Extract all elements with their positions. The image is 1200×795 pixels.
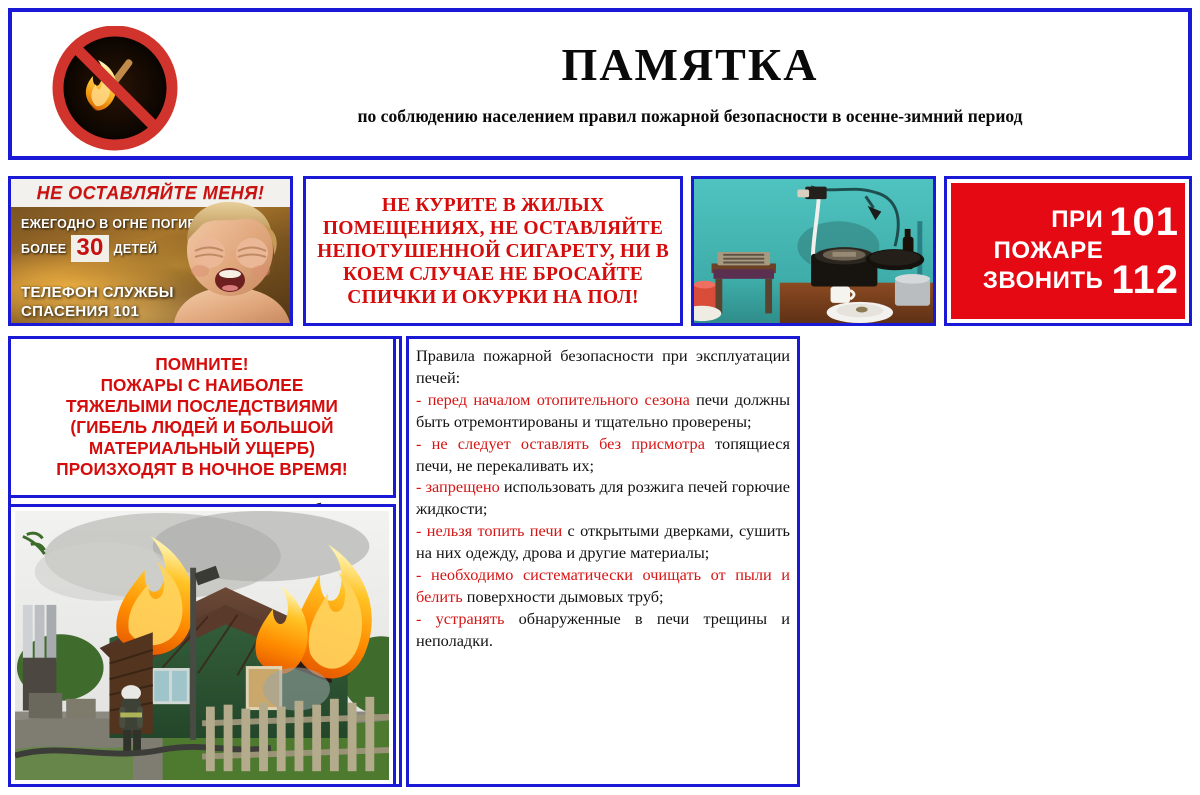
stove-item: - необходимо систематически очищать от п…: [416, 564, 790, 608]
kids-phone-line1: ТЕЛЕФОН СЛУЖБЫ: [21, 284, 174, 303]
kids-stat-prefix: БОЛЕЕ: [21, 242, 66, 256]
emergency-word-2: ПОЖАРЕ: [959, 236, 1103, 267]
stove-heading: Правила пожарной безопасности при эксплу…: [416, 345, 790, 389]
stove-item: - не следует оставлять без присмотра топ…: [416, 433, 790, 477]
stove-item-red: - не следует оставлять без присмотра: [416, 434, 705, 453]
title-block: ПАМЯТКА по соблюдению населением правил …: [202, 12, 1178, 156]
remember-line: (ГИБЕЛЬ ЛЮДЕЙ И БОЛЬШОЙ: [56, 417, 348, 438]
remember-warning-text: ПОМНИТЕ! ПОЖАРЫ С НАИБОЛЕЕ ТЯЖЕЛЫМИ ПОСЛ…: [56, 354, 348, 481]
stove-item-black: поверхности дымовых труб;: [463, 587, 664, 606]
kitchen-hazard-photo: [691, 176, 936, 326]
emergency-number-101: 101: [1109, 193, 1179, 251]
kids-victim-count: 30: [71, 235, 108, 262]
page-subtitle: по соблюдению населением правил пожарной…: [357, 106, 1022, 127]
remember-line: ПОЖАРЫ С НАИБОЛЕЕ: [56, 375, 348, 396]
kids-phone-line2: СПАСЕНИЯ 101: [21, 303, 174, 322]
children-fire-victims-banner: НЕ ОСТАВЛЯЙТЕ МЕНЯ! ЕЖЕГОДНО В ОГНЕ ПОГИ…: [8, 176, 293, 326]
emergency-numbers: 101 112: [1109, 193, 1179, 309]
banner-row: НЕ ОСТАВЛЯЙТЕ МЕНЯ! ЕЖЕГОДНО В ОГНЕ ПОГИ…: [8, 170, 1192, 330]
stove-item: - устранять обнаруженные в печи трещины …: [416, 608, 790, 652]
stove-item: - нельзя топить печи с открытыми дверкам…: [416, 520, 790, 564]
remember-warning-box: ПОМНИТЕ! ПОЖАРЫ С НАИБОЛЕЕ ТЯЖЕЛЫМИ ПОСЛ…: [8, 336, 396, 498]
remember-line: ПРОИЗХОДЯТ В НОЧНОЕ ВРЕМЯ!: [56, 459, 348, 480]
emergency-word-1: ПРИ: [959, 205, 1103, 236]
no-open-flame-icon: [40, 26, 190, 151]
stove-item-red: - устранять: [416, 609, 504, 628]
stove-item: - запрещено использовать для розжига печ…: [416, 476, 790, 520]
stove-item-red: - нельзя топить печи: [416, 521, 562, 540]
smoking-warning-text: НЕ КУРИТЕ В ЖИЛЫХ ПОМЕЩЕНИЯХ, НЕ ОСТАВЛЯ…: [314, 194, 672, 309]
emergency-number-112: 112: [1109, 251, 1179, 309]
page-title: ПАМЯТКА: [562, 41, 819, 89]
kids-stat-line2: БОЛЕЕ 30 ДЕТЕЙ: [21, 235, 157, 262]
smoking-warning-box: НЕ КУРИТЕ В ЖИЛЫХ ПОМЕЩЕНИЯХ, НЕ ОСТАВЛЯ…: [303, 176, 683, 326]
stove-safety-column: Правила пожарной безопасности при эксплу…: [406, 336, 800, 787]
emergency-words: ПРИ ПОЖАРЕ ЗВОНИТЬ: [959, 205, 1109, 297]
remember-line: ТЯЖЕЛЫМИ ПОСЛЕДСТВИЯМИ: [56, 396, 348, 417]
emergency-word-3: ЗВОНИТЬ: [959, 266, 1103, 297]
stove-safety-text: Правила пожарной безопасности при эксплу…: [416, 345, 790, 652]
stove-item-red: - запрещено: [416, 477, 500, 496]
remember-line: МАТЕРИАЛЬНЫЙ УЩЕРБ): [56, 438, 348, 459]
kids-stat-suffix: ДЕТЕЙ: [114, 242, 158, 256]
emergency-call-sign: ПРИ ПОЖАРЕ ЗВОНИТЬ 101 112: [944, 176, 1192, 326]
crying-child-photo: [164, 195, 293, 323]
remember-line: ПОМНИТЕ!: [56, 354, 348, 375]
poster-header: ПАМЯТКА по соблюдению населением правил …: [8, 8, 1192, 160]
kids-rescue-phone: ТЕЛЕФОН СЛУЖБЫ СПАСЕНИЯ 101: [21, 284, 174, 322]
content-row: Правила пожарной безопасности при эксплу…: [8, 336, 1192, 787]
stove-item: - перед началом отопительного сезона печ…: [416, 389, 790, 433]
emergency-sign-inner: ПРИ ПОЖАРЕ ЗВОНИТЬ 101 112: [951, 183, 1185, 319]
stove-item-red: - перед началом отопительного сезона: [416, 390, 690, 409]
right-column: ПОМНИТЕ! ПОЖАРЫ С НАИБОЛЕЕ ТЯЖЕЛЫМИ ПОСЛ…: [8, 336, 396, 787]
fire-safety-poster: ПАМЯТКА по соблюдению населением правил …: [0, 0, 1200, 795]
burning-house-photo: [8, 504, 396, 787]
